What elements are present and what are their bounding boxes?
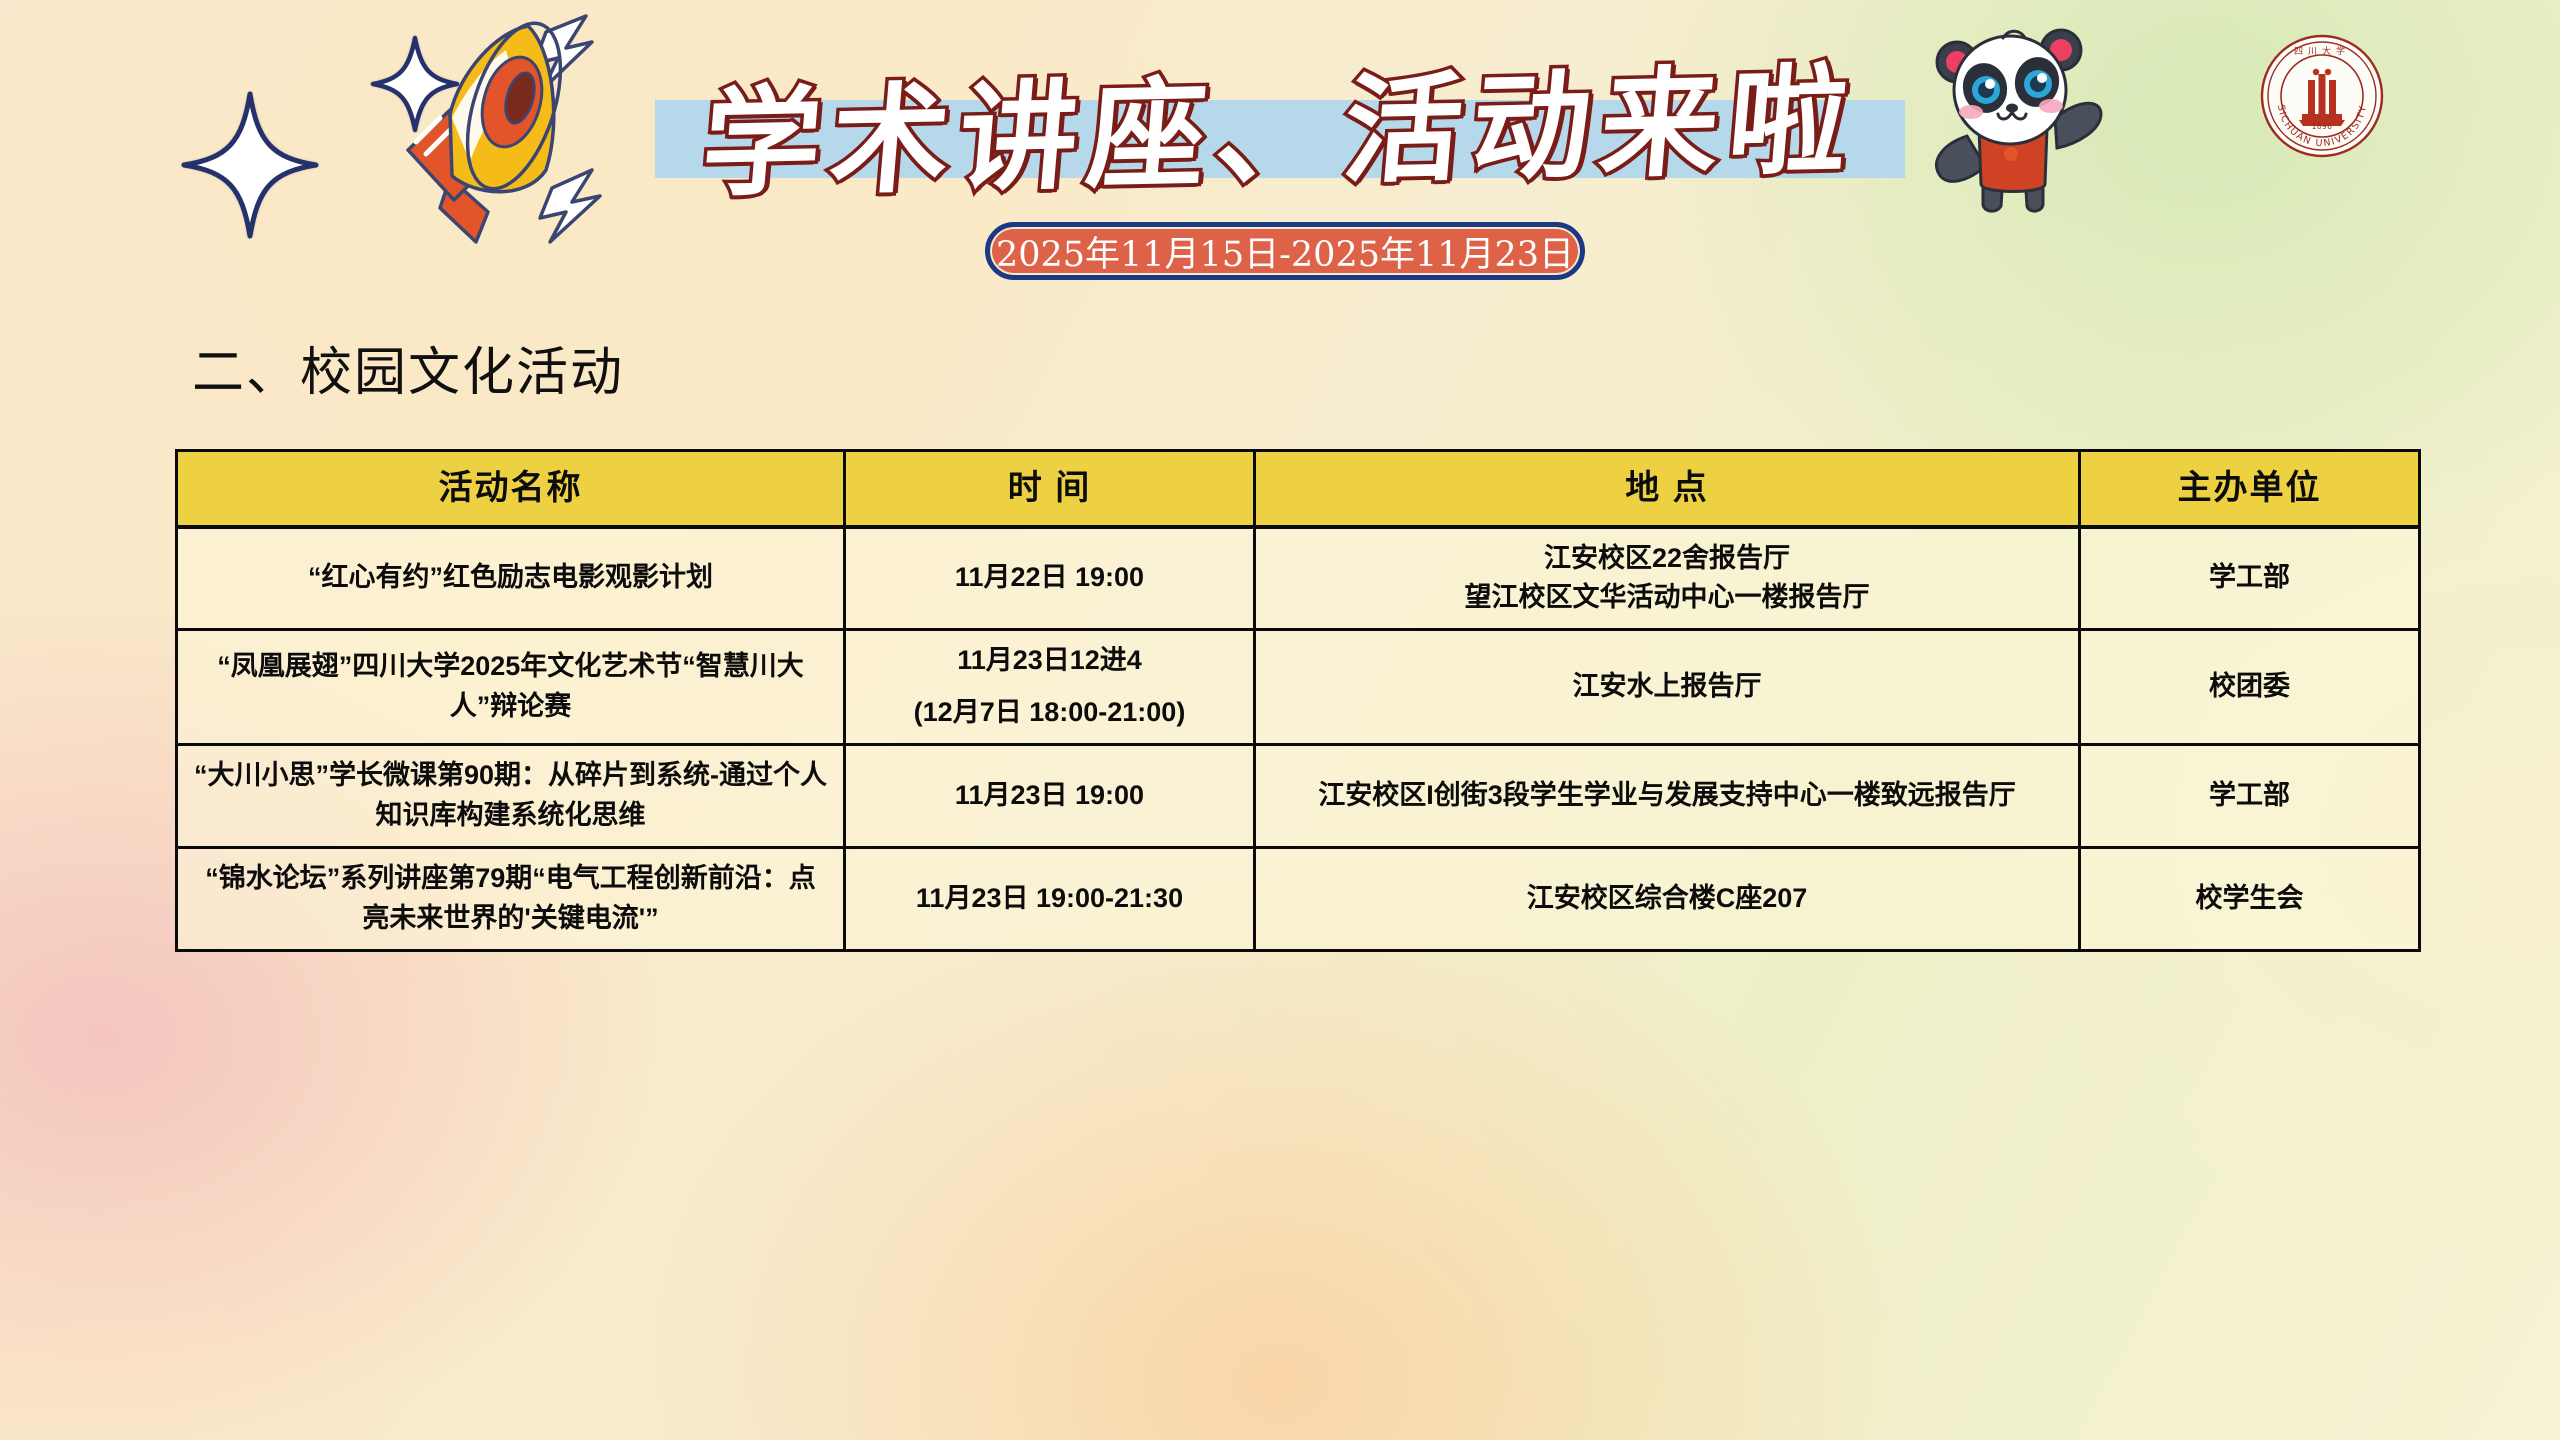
cell-activity-name-line: “大川小思”学长微课第90期：从碎片到系统-通过个人知识库构建系统化思维 xyxy=(192,756,829,836)
cell-time: 11月22日 19:00 xyxy=(845,527,1255,630)
cell-organizer-line: 学工部 xyxy=(2095,776,2404,816)
cell-time-line: 11月22日 19:00 xyxy=(860,558,1239,598)
column-header-organizer: 主办单位 xyxy=(2080,451,2420,527)
cell-place: 江安水上报告厅 xyxy=(1255,630,2080,745)
date-range-label: 2025年11月15日-2025年11月23日 xyxy=(996,226,1574,277)
section-heading: 二、校园文化活动 xyxy=(192,330,624,405)
table-row: “大川小思”学长微课第90期：从碎片到系统-通过个人知识库构建系统化思维11月2… xyxy=(177,745,2420,848)
cell-time: 11月23日12进4(12月7日 18:00-21:00) xyxy=(845,630,1255,745)
cell-activity-name: “锦水论坛”系列讲座第79期“电气工程创新前沿：点亮未来世界的'关键电流'” xyxy=(177,848,845,951)
cell-place-line: 江安水上报告厅 xyxy=(1270,667,2064,707)
cell-activity-name-line: “红心有约”红色励志电影观影计划 xyxy=(192,558,829,598)
cell-place-line: 江安校区22舍报告厅 xyxy=(1270,539,2064,579)
panda-mascot-icon xyxy=(1905,8,2120,223)
cell-place-line: 江安校区综合楼C座207 xyxy=(1270,879,2064,919)
cell-activity-name-line: “锦水论坛”系列讲座第79期“电气工程创新前沿：点亮未来世界的'关键电流'” xyxy=(192,859,829,939)
cell-organizer: 校学生会 xyxy=(2080,848,2420,951)
cell-organizer: 学工部 xyxy=(2080,527,2420,630)
cell-organizer-line: 校团委 xyxy=(2095,667,2404,707)
megaphone-icon xyxy=(300,10,630,250)
table-body: “红心有约”红色励志电影观影计划11月22日 19:00江安校区22舍报告厅望江… xyxy=(177,527,2420,951)
cell-place-line: 望江校区文华活动中心一楼报告厅 xyxy=(1270,578,2064,618)
page-title: 学术讲座、活动来啦 xyxy=(648,49,1912,215)
cell-activity-name: “凤凰展翅”四川大学2025年文化艺术节“智慧川大人”辩论赛 xyxy=(177,630,845,745)
cell-organizer-line: 学工部 xyxy=(2095,558,2404,598)
cell-activity-name: “红心有约”红色励志电影观影计划 xyxy=(177,527,845,630)
column-header-activity-name: 活动名称 xyxy=(177,451,845,527)
column-header-time: 时 间 xyxy=(845,451,1255,527)
cell-time: 11月23日 19:00 xyxy=(845,745,1255,848)
cell-activity-name-line: “凤凰展翅”四川大学2025年文化艺术节“智慧川大人”辩论赛 xyxy=(192,647,829,727)
column-header-place: 地 点 xyxy=(1255,451,2080,527)
cell-activity-name: “大川小思”学长微课第90期：从碎片到系统-通过个人知识库构建系统化思维 xyxy=(177,745,845,848)
cell-organizer: 校团委 xyxy=(2080,630,2420,745)
cell-organizer: 学工部 xyxy=(2080,745,2420,848)
cell-time: 11月23日 19:00-21:30 xyxy=(845,848,1255,951)
sparkle-icon xyxy=(180,90,320,240)
cell-time-line: 11月23日 19:00-21:30 xyxy=(860,879,1239,919)
cell-time-line: (12月7日 18:00-21:00) xyxy=(860,693,1239,733)
cell-organizer-line: 校学生会 xyxy=(2095,879,2404,919)
cell-place: 江安校区综合楼C座207 xyxy=(1255,848,2080,951)
poster-title-wrap: 学术讲座、活动来啦 xyxy=(655,62,1905,202)
sichuan-university-seal: 1896 四川大学 SICHUAN UNIVERSITY xyxy=(2258,32,2386,160)
table-row: “红心有约”红色励志电影观影计划11月22日 19:00江安校区22舍报告厅望江… xyxy=(177,527,2420,630)
svg-text:1896: 1896 xyxy=(2312,122,2333,131)
cell-time-line: 11月23日 19:00 xyxy=(860,776,1239,816)
table-row: “锦水论坛”系列讲座第79期“电气工程创新前沿：点亮未来世界的'关键电流'”11… xyxy=(177,848,2420,951)
svg-text:四川大学: 四川大学 xyxy=(2294,45,2350,57)
table-header: 活动名称 时 间 地 点 主办单位 xyxy=(177,451,2420,527)
line-gap xyxy=(860,681,1239,693)
cell-time-line: 11月23日12进4 xyxy=(860,641,1239,681)
date-range-badge: 2025年11月15日-2025年11月23日 xyxy=(985,222,1585,280)
table-header-row: 活动名称 时 间 地 点 主办单位 xyxy=(177,451,2420,527)
cell-place: 江安校区I创街3段学生学业与发展支持中心一楼致远报告厅 xyxy=(1255,745,2080,848)
poster-canvas: 学术讲座、活动来啦 2025年11月15日-2025年11月23日 xyxy=(0,0,2560,1440)
activity-schedule-table: 活动名称 时 间 地 点 主办单位 “红心有约”红色励志电影观影计划11月22日… xyxy=(175,449,2421,952)
poster-header: 学术讲座、活动来啦 2025年11月15日-2025年11月23日 xyxy=(0,0,2560,330)
cell-place-line: 江安校区I创街3段学生学业与发展支持中心一楼致远报告厅 xyxy=(1270,776,2064,816)
table-row: “凤凰展翅”四川大学2025年文化艺术节“智慧川大人”辩论赛11月23日12进4… xyxy=(177,630,2420,745)
cell-place: 江安校区22舍报告厅望江校区文华活动中心一楼报告厅 xyxy=(1255,527,2080,630)
